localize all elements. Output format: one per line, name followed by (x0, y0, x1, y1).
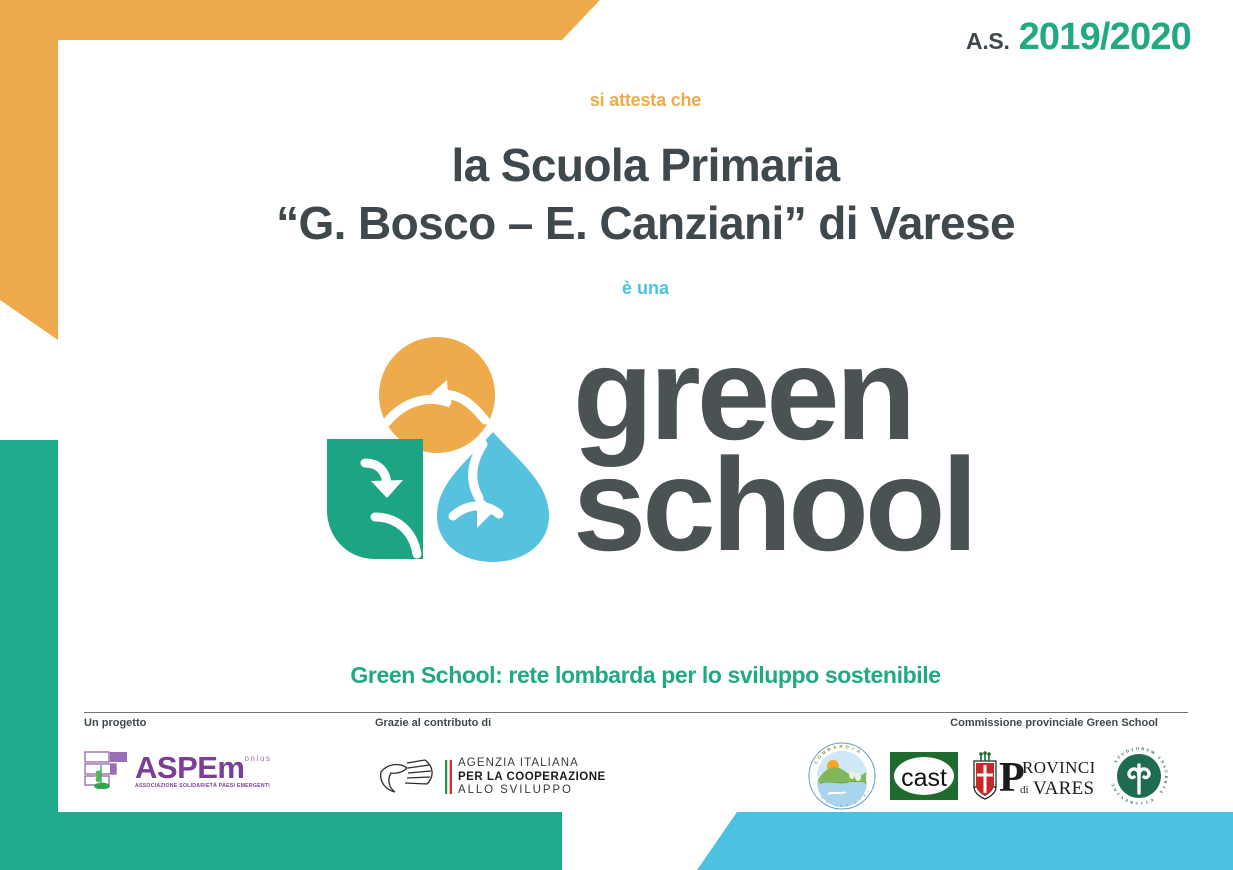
academic-year-value: 2019/2020 (1019, 16, 1191, 59)
svg-text:B: B (1164, 775, 1169, 778)
academic-year-label: A.S. (966, 28, 1010, 55)
is-a-label: è una (58, 278, 1233, 299)
footer-label-commissione: Commissione provinciale Green School (950, 717, 1158, 729)
footer-label-contributo: Grazie al contributo di (375, 717, 491, 729)
cast-logo-icon: cast (890, 752, 958, 800)
svg-text:di: di (1020, 784, 1029, 796)
headline-block: si attesta che la Scuola Primaria “G. Bo… (58, 90, 1233, 299)
aspem-subtitle: ASSOCIAZIONE SOLIDARIETÀ PAESI EMERGENTI (135, 783, 272, 789)
green-school-wordmark: green school (573, 339, 974, 561)
lombardia-sustainability-seal-icon: L O M B A R D I A r e t e (808, 742, 876, 810)
aics-line-1: AGENZIA ITALIANA (458, 757, 606, 771)
aspem-plant-icon (84, 749, 130, 789)
aspem-text: ASPEm onlus ASSOCIAZIONE SOLIDARIETÀ PAE… (135, 753, 272, 789)
universita-insubria-seal-icon: S T U D I O R U M I N S U B R (1108, 741, 1170, 811)
footer-divider (84, 712, 1188, 713)
network-tagline: Green School: rete lombarda per lo svilu… (58, 662, 1233, 689)
footer-label-progetto: Un progetto (84, 717, 146, 729)
provincia-di-varese-logo-icon: P ROVINCIA di VARESE (972, 751, 1094, 801)
footer-labels: Un progetto Grazie al contributo di Comm… (84, 717, 1188, 737)
aics-text: AGENZIA ITALIANA PER LA COOPERAZIONE ALL… (458, 757, 606, 798)
aics-line-3: ALLO SVILUPPO (458, 784, 606, 798)
commission-logos: L O M B A R D I A r e t e (808, 741, 1170, 811)
aics-line-2: PER LA COOPERAZIONE (458, 771, 606, 785)
dove-icon (377, 758, 439, 796)
svg-text:ROVINCIA: ROVINCIA (1022, 758, 1094, 777)
certificate-page: A.S. 2019/2020 si attesta che la Scuola … (0, 0, 1233, 870)
school-name-line-2: “G. Bosco – E. Canziani” di Varese (58, 195, 1233, 253)
academic-year: A.S. 2019/2020 (966, 16, 1191, 59)
svg-text:U: U (1163, 770, 1168, 774)
decor-band-orange-left (0, 0, 58, 340)
aics-logo: AGENZIA ITALIANA PER LA COOPERAZIONE ALL… (377, 757, 606, 798)
decor-band-green-bottom (0, 812, 562, 870)
svg-text:e: e (840, 804, 842, 808)
svg-text:cast: cast (901, 764, 947, 792)
decor-band-green-left (0, 440, 58, 870)
decor-band-orange-top (0, 0, 600, 40)
footer: Un progetto Grazie al contributo di Comm… (84, 712, 1188, 809)
school-name-line-1: la Scuola Primaria (58, 137, 1233, 195)
aspem-wordmark: ASPEm (135, 753, 244, 782)
school-name: la Scuola Primaria “G. Bosco – E. Canzia… (58, 137, 1233, 252)
green-school-logo-icon (317, 332, 557, 567)
svg-text:VARESE: VARESE (1033, 778, 1094, 799)
green-school-logo: green school (58, 332, 1233, 567)
aspem-onlus-label: onlus (244, 754, 271, 763)
aspem-main-row: ASPEm onlus (135, 753, 272, 782)
footer-logos: ASPEm onlus ASSOCIAZIONE SOLIDARIETÀ PAE… (84, 737, 1188, 809)
decor-band-blue-bottom (653, 812, 1233, 870)
attestation-label: si attesta che (58, 90, 1233, 111)
italian-flag-icon (445, 760, 452, 794)
wordmark-line-school: school (573, 450, 974, 561)
aspem-logo: ASPEm onlus ASSOCIAZIONE SOLIDARIETÀ PAE… (84, 749, 272, 789)
